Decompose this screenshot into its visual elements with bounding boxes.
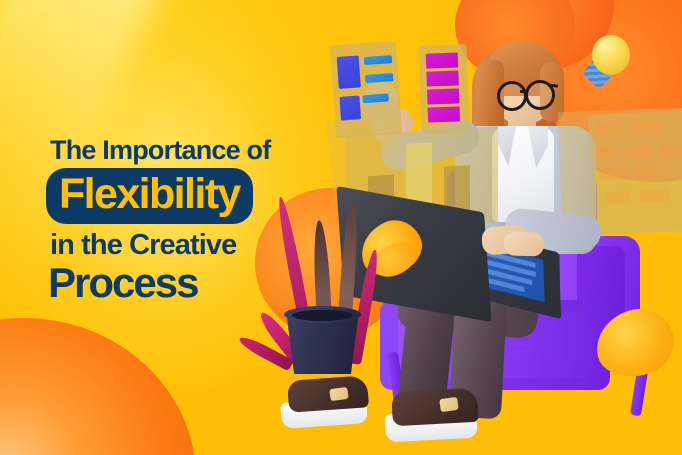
- headline-line-2: Flexibility: [59, 173, 240, 216]
- glasses-bridge: [520, 90, 527, 93]
- panel-blue-bar: [364, 55, 392, 65]
- shoe-right: [391, 388, 479, 426]
- panel-blue-block: [337, 55, 361, 88]
- grid-cell: [660, 142, 682, 155]
- grid-cell: [637, 165, 658, 178]
- floating-panel-magenta[interactable]: [418, 44, 469, 134]
- glasses-lens-left: [497, 81, 527, 111]
- headline-line-4: Process: [48, 262, 308, 304]
- headline-block: The Importance of Flexibility in the Cre…: [46, 137, 308, 304]
- headline-line-1: The Importance of: [50, 137, 308, 164]
- headline-highlight-pill: Flexibility: [46, 168, 253, 224]
- plant-pot-inner: [292, 310, 353, 321]
- panel-blue-block: [339, 95, 361, 120]
- hand-right-secondary: [504, 231, 545, 256]
- floating-panel-grid[interactable]: [588, 109, 682, 235]
- panel-magenta-bar: [426, 52, 459, 68]
- lightbulb-glass-icon: [592, 35, 630, 75]
- shoe-strap-right: [439, 397, 459, 412]
- panel-blue-bar: [365, 73, 393, 83]
- grid-cell: [599, 167, 630, 181]
- panel-magenta-bar: [428, 106, 461, 122]
- grid-cell: [606, 191, 631, 204]
- grid-cell: [630, 119, 665, 135]
- grid-cell: [598, 145, 619, 158]
- panel-magenta-bar: [426, 70, 459, 86]
- grid-cell: [640, 189, 671, 203]
- shoe-strap-left: [329, 387, 348, 401]
- panel-blue-bar: [362, 93, 388, 103]
- shoe-left: [287, 375, 369, 413]
- banner-canvas: The Importance of Flexibility in the Cre…: [0, 0, 682, 455]
- headline-line-3: in the Creative: [50, 231, 308, 260]
- panel-magenta-bar: [427, 88, 460, 104]
- grid-cell: [626, 144, 653, 157]
- grid-cell: [596, 121, 623, 136]
